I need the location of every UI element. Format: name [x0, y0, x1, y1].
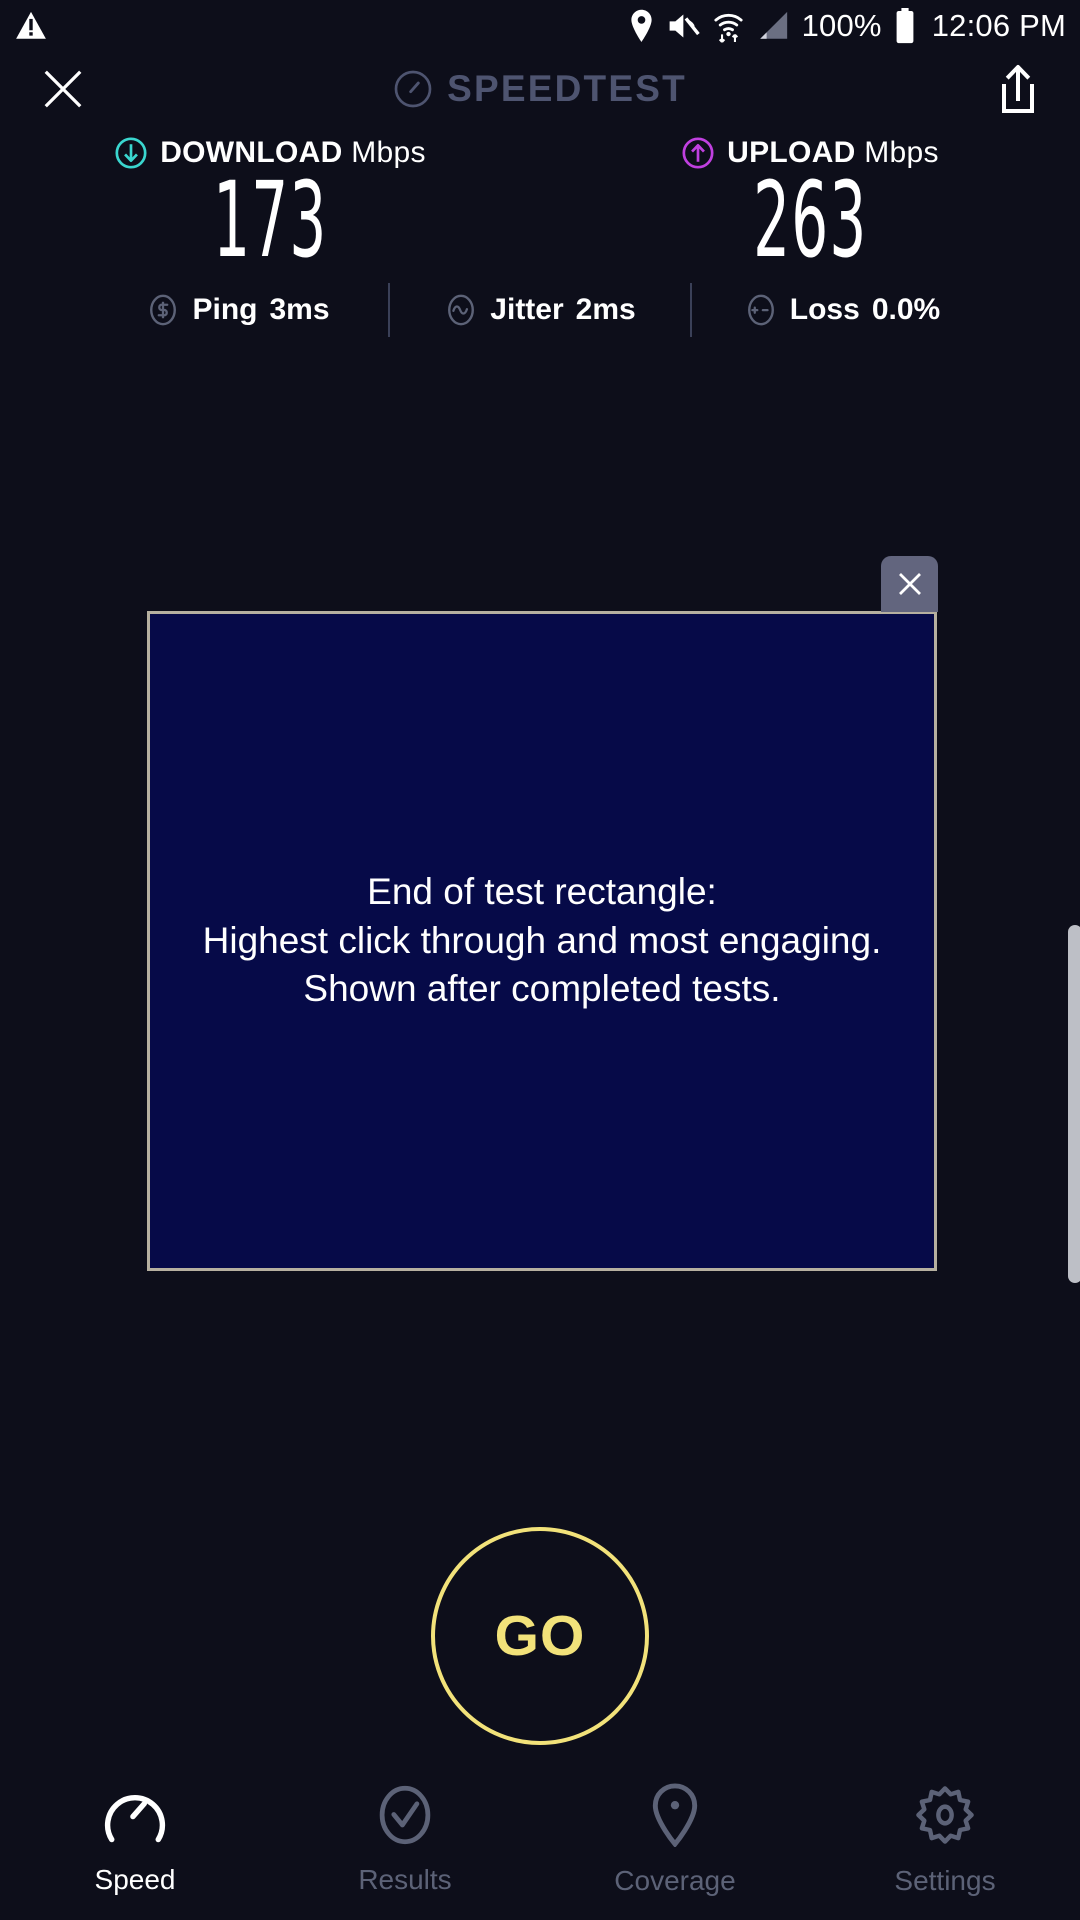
share-button[interactable]	[996, 63, 1040, 115]
jitter-icon	[444, 293, 478, 327]
download-value: 173	[213, 166, 327, 275]
nav-item-coverage[interactable]: Coverage	[540, 1760, 810, 1920]
nav-label-settings: Settings	[894, 1865, 995, 1897]
status-bar-left	[14, 9, 48, 43]
bottom-navigation: Speed Results Coverage Settings	[0, 1760, 1080, 1920]
download-metric: DOWNLOAD Mbps 173	[0, 136, 540, 275]
ad-line-1: End of test rectangle:	[203, 868, 882, 917]
status-bar: 100% 12:06 PM	[0, 0, 1080, 52]
ping-label: Ping	[192, 293, 257, 327]
upload-arrow-icon	[681, 136, 715, 170]
download-arrow-icon	[114, 136, 148, 170]
close-icon	[40, 66, 86, 112]
advertisement-banner[interactable]: End of test rectangle: Highest click thr…	[147, 611, 937, 1271]
brand-title: SPEEDTEST	[447, 68, 687, 110]
map-pin-icon	[649, 1783, 701, 1847]
share-icon	[996, 63, 1040, 115]
upload-unit-text: Mbps	[864, 136, 939, 169]
nav-item-settings[interactable]: Settings	[810, 1760, 1080, 1920]
ping-stat: Ping 3ms	[88, 293, 388, 327]
nav-item-speed[interactable]: Speed	[0, 1760, 270, 1920]
ping-icon	[146, 293, 180, 327]
loss-stat: Loss 0.0%	[692, 293, 992, 327]
nav-item-results[interactable]: Results	[270, 1760, 540, 1920]
mute-icon	[667, 10, 701, 42]
loss-value: 0.0%	[872, 293, 940, 327]
ad-line-3: Shown after completed tests.	[203, 965, 882, 1014]
ad-line-2: Highest click through and most engaging.	[203, 917, 882, 966]
ad-text: End of test rectangle: Highest click thr…	[193, 868, 892, 1014]
brand-logo: SPEEDTEST	[0, 68, 1080, 110]
jitter-value: 2ms	[576, 293, 636, 327]
jitter-label: Jitter	[490, 293, 563, 327]
loss-label: Loss	[790, 293, 860, 327]
jitter-stat: Jitter 2ms	[390, 293, 690, 327]
clock-label: 12:06 PM	[932, 8, 1066, 44]
loss-icon	[744, 293, 778, 327]
speedometer-logo-icon	[393, 69, 433, 109]
upload-value: 263	[753, 166, 867, 275]
go-button-label: GO	[495, 1603, 586, 1669]
ping-jitter-loss-row: Ping 3ms Jitter 2ms Loss	[0, 283, 1080, 337]
upload-metric: UPLOAD Mbps 263	[540, 136, 1080, 275]
ad-close-icon	[895, 569, 925, 599]
ping-value: 3ms	[269, 293, 329, 327]
download-unit-text: Mbps	[351, 136, 426, 169]
warning-triangle-icon	[14, 9, 48, 43]
check-circle-icon	[374, 1784, 436, 1846]
nav-label-coverage: Coverage	[614, 1865, 735, 1897]
nav-label-speed: Speed	[95, 1864, 176, 1896]
results-panel: DOWNLOAD Mbps 173 UPLOAD Mbps	[0, 136, 1080, 337]
gear-icon	[913, 1783, 977, 1847]
app-header: SPEEDTEST	[0, 52, 1080, 126]
nav-label-results: Results	[358, 1864, 451, 1896]
speedometer-icon	[101, 1784, 169, 1846]
speedtest-app-screen: 100% 12:06 PM SPEEDTEST	[0, 0, 1080, 1920]
download-upload-row: DOWNLOAD Mbps 173 UPLOAD Mbps	[0, 136, 1080, 275]
location-pin-icon	[628, 9, 655, 43]
cell-signal-icon	[756, 10, 790, 42]
wifi-icon	[713, 9, 744, 43]
go-button[interactable]: GO	[431, 1527, 649, 1745]
battery-icon	[894, 8, 916, 44]
battery-percent-label: 100%	[802, 8, 882, 44]
status-bar-right: 100% 12:06 PM	[628, 8, 1066, 44]
close-button[interactable]	[40, 66, 86, 112]
ad-close-button[interactable]	[881, 556, 938, 612]
vertical-scrollbar[interactable]	[1068, 925, 1080, 1283]
